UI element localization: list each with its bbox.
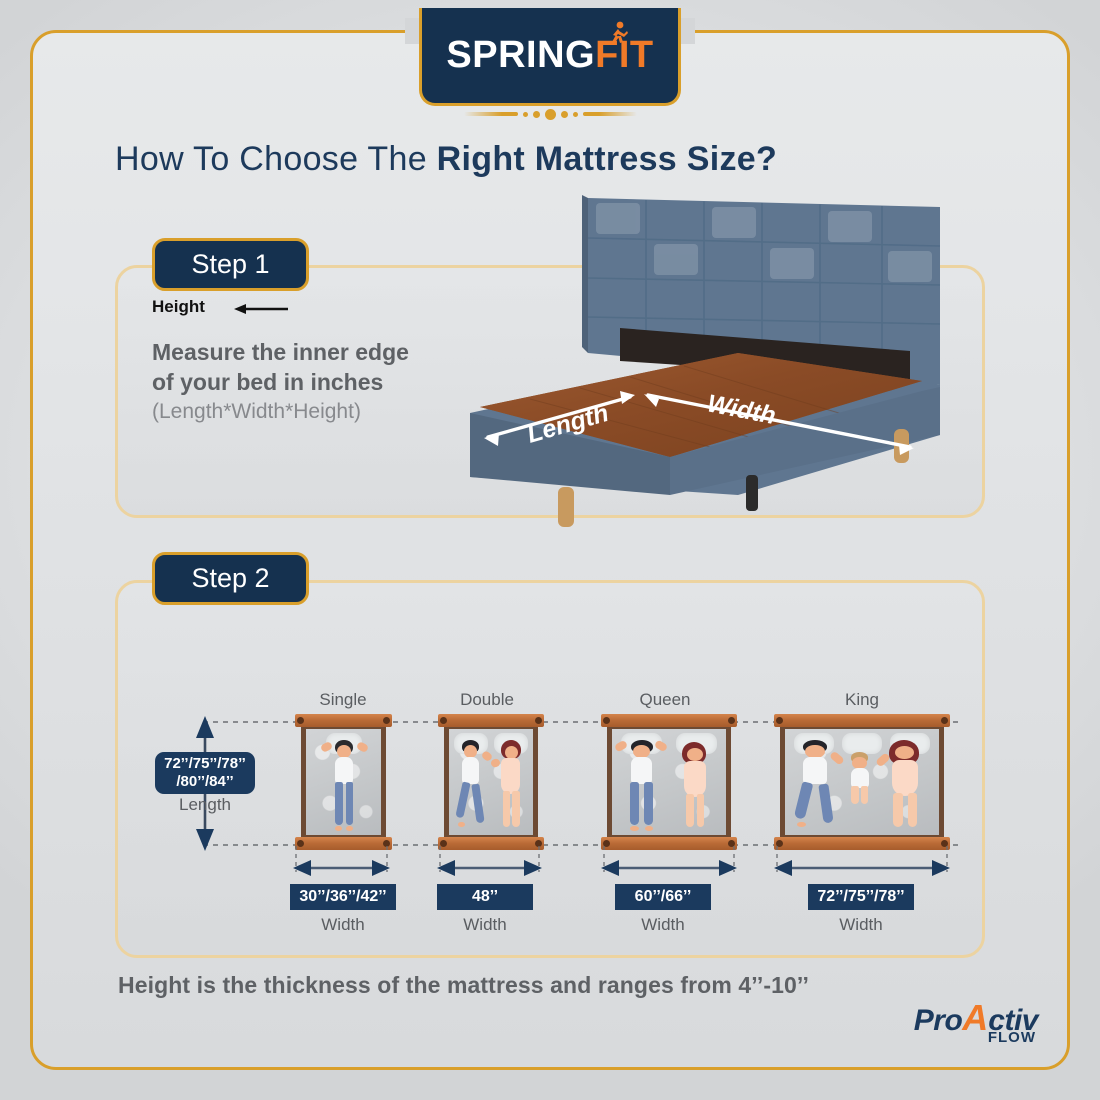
length-dimension-badge: 72’’/75’’/78’’ /80’’/84’’ [155, 752, 255, 794]
pillow [842, 733, 882, 754]
step1-line3: (Length*Width*Height) [152, 398, 482, 426]
mattress-rail-bottom [438, 837, 544, 850]
sleeper-figure [623, 740, 659, 829]
step1-badge: Step 1 [152, 238, 309, 291]
divider-line-right [583, 112, 637, 116]
length-value-line2: /80’’/84’’ [176, 773, 233, 791]
width-badge-double: 48’’ [437, 884, 533, 910]
mattress-double [444, 718, 538, 846]
width-caption-double: Width [437, 915, 533, 935]
runner-icon [607, 21, 629, 47]
mattress-surface [449, 729, 533, 835]
page-title-part1: How To Choose The [115, 140, 437, 178]
mattress-rail-top [438, 714, 544, 727]
size-label-queen: Queen [605, 690, 725, 710]
mattress-rail-bottom [601, 837, 737, 850]
mattress-queen [607, 718, 731, 846]
divider-dot-large-center [545, 109, 556, 120]
page-title: How To Choose The Right Mattress Size? [115, 140, 985, 179]
mattress-rail-top [295, 714, 392, 727]
proactiv-a: A [962, 997, 988, 1038]
mattress-rail-top [774, 714, 950, 727]
size-label-single: Single [283, 690, 403, 710]
sleeper-figure [329, 740, 361, 829]
sleeper-figure [456, 740, 486, 829]
width-caption-single: Width [290, 915, 396, 935]
mattress-rail-bottom [295, 837, 392, 850]
bed-height-label: Height [152, 297, 205, 317]
infographic-page: SPRINGFIT How To Choose The Right Mattre… [0, 0, 1100, 1100]
mattress-surface [785, 729, 939, 835]
step2-badge: Step 2 [152, 552, 309, 605]
width-badge-single: 30’’/36’’/42’’ [290, 884, 396, 910]
sleeper-figure [796, 740, 836, 829]
width-caption-king: Width [808, 915, 914, 935]
length-value-line1: 72’’/75’’/78’’ [164, 755, 246, 773]
sleeper-figure-child [847, 752, 873, 805]
size-label-double: Double [427, 690, 547, 710]
step1-instruction: Measure the inner edge of your bed in in… [152, 337, 482, 425]
height-pointer-arrow [228, 303, 290, 315]
divider-line-left [464, 112, 518, 116]
brand-logo-plate: SPRINGFIT [419, 8, 681, 106]
mattress-single [301, 718, 386, 846]
mattress-king [780, 718, 944, 846]
footer-note: Height is the thickness of the mattress … [118, 972, 809, 999]
mattress-rail-bottom [774, 837, 950, 850]
step1-line1: Measure the inner edge [152, 337, 482, 367]
step1-line2: of your bed in inches [152, 367, 482, 397]
sleeper-figure [678, 742, 712, 829]
divider-dot-small-left [523, 112, 528, 117]
divider-dot-small-right [573, 112, 578, 117]
proactiv-flow-logo: ProActiv FLOW [914, 1000, 1038, 1045]
mattress-rail-top [601, 714, 737, 727]
size-label-king: King [802, 690, 922, 710]
proactiv-pro: Pro [914, 1004, 963, 1037]
mattress-surface [306, 729, 381, 835]
bed-illustration: Length Width [470, 185, 970, 530]
width-badge-queen: 60’’/66’’ [615, 884, 711, 910]
sleeper-figure [496, 740, 526, 829]
decorative-divider [419, 106, 681, 122]
divider-dot-medium-right [561, 111, 568, 118]
divider-dot-medium-left [533, 111, 540, 118]
sleeper-figure [885, 740, 925, 829]
logo-text-spring: SPRING [446, 34, 595, 76]
length-caption: Length [155, 795, 255, 815]
width-caption-queen: Width [615, 915, 711, 935]
width-badge-king: 72’’/75’’/78’’ [808, 884, 914, 910]
page-title-part2: Right Mattress Size? [437, 140, 777, 178]
mattress-surface [612, 729, 726, 835]
brand-logo: SPRINGFIT [446, 34, 653, 77]
